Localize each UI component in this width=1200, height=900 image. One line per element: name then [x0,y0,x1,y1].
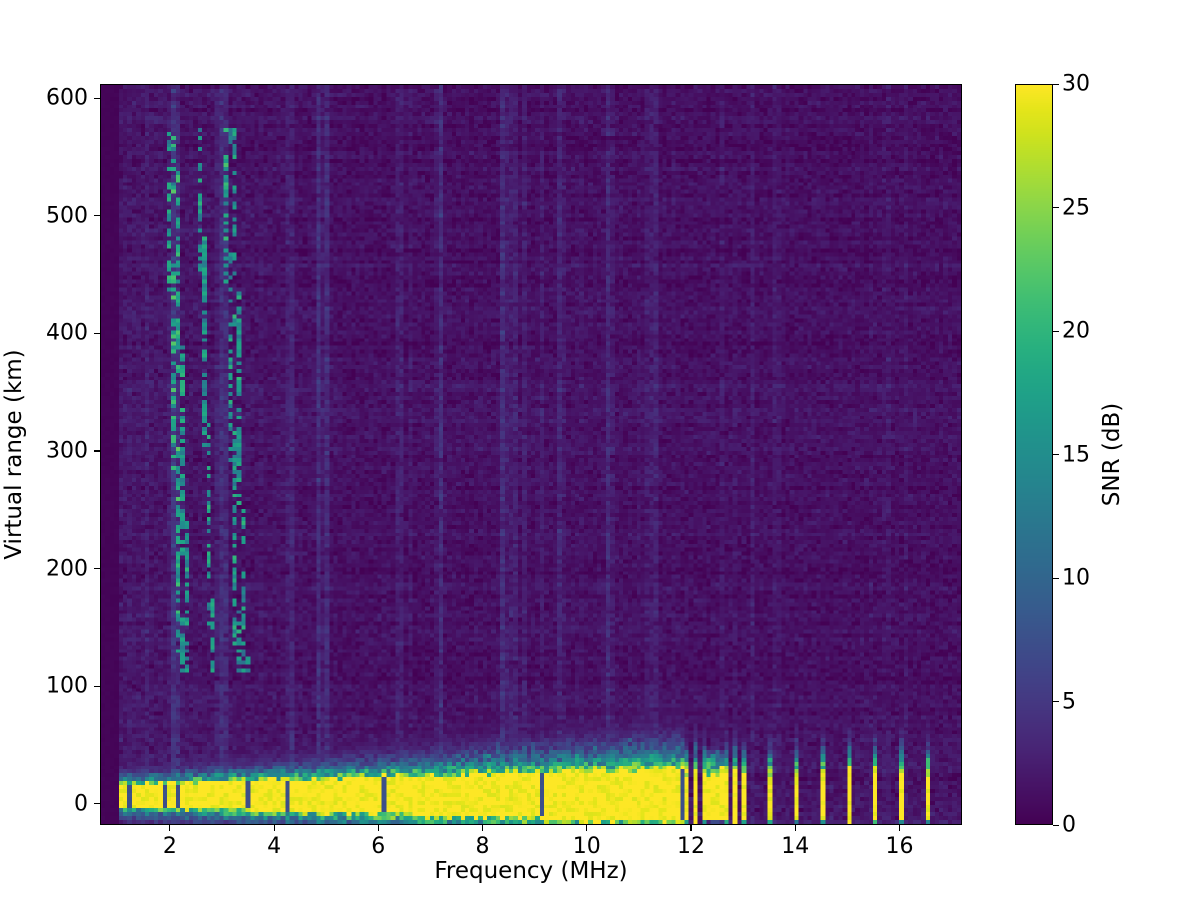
colorbar-tick-mark [1053,825,1059,826]
x-tick-mark [690,825,691,831]
x-axis-label: Frequency (MHz) [100,858,962,884]
colorbar-tick-mark [1053,454,1059,455]
colorbar-tick-mark [1053,84,1059,85]
y-tick-mark [94,215,100,216]
x-tick-label: 4 [267,834,281,859]
x-tick-mark [586,825,587,831]
x-tick-mark [378,825,379,831]
y-tick-mark [94,686,100,687]
x-tick-label: 2 [163,834,177,859]
y-tick-label: 300 [46,438,88,463]
colorbar-gradient [1016,85,1052,824]
colorbar [1015,84,1053,825]
x-tick-mark [169,825,170,831]
y-tick-label: 500 [46,203,88,228]
colorbar-tick-mark [1053,207,1059,208]
x-tick-mark [795,825,796,831]
y-axis-label: Virtual range (km) [0,84,28,825]
y-tick-label: 0 [74,791,88,816]
colorbar-tick-mark [1053,578,1059,579]
y-tick-mark [94,803,100,804]
ionogram-heatmap [101,85,961,824]
x-tick-label: 10 [573,834,601,859]
colorbar-tick-mark [1053,331,1059,332]
colorbar-tick-mark [1053,701,1059,702]
x-tick-label: 6 [371,834,385,859]
y-tick-mark [94,568,100,569]
y-tick-mark [94,333,100,334]
x-tick-label: 14 [781,834,809,859]
y-tick-label: 200 [46,556,88,581]
colorbar-tick-label: 15 [1062,442,1090,467]
colorbar-label: SNR (dB) [1098,84,1126,825]
x-tick-label: 12 [677,834,705,859]
colorbar-tick-label: 30 [1062,72,1090,97]
x-tick-mark [482,825,483,831]
colorbar-tick-label: 10 [1062,566,1090,591]
x-tick-mark [899,825,900,831]
y-tick-mark [94,450,100,451]
y-tick-label: 100 [46,674,88,699]
colorbar-tick-label: 25 [1062,195,1090,220]
colorbar-tick-label: 5 [1062,689,1076,714]
ionogram-plot-area [100,84,962,825]
x-tick-label: 16 [885,834,913,859]
y-tick-label: 400 [46,321,88,346]
colorbar-tick-label: 20 [1062,319,1090,344]
colorbar-tick-label: 0 [1062,813,1076,838]
x-tick-label: 8 [476,834,490,859]
y-tick-mark [94,98,100,99]
y-tick-label: 600 [46,86,88,111]
x-tick-mark [274,825,275,831]
